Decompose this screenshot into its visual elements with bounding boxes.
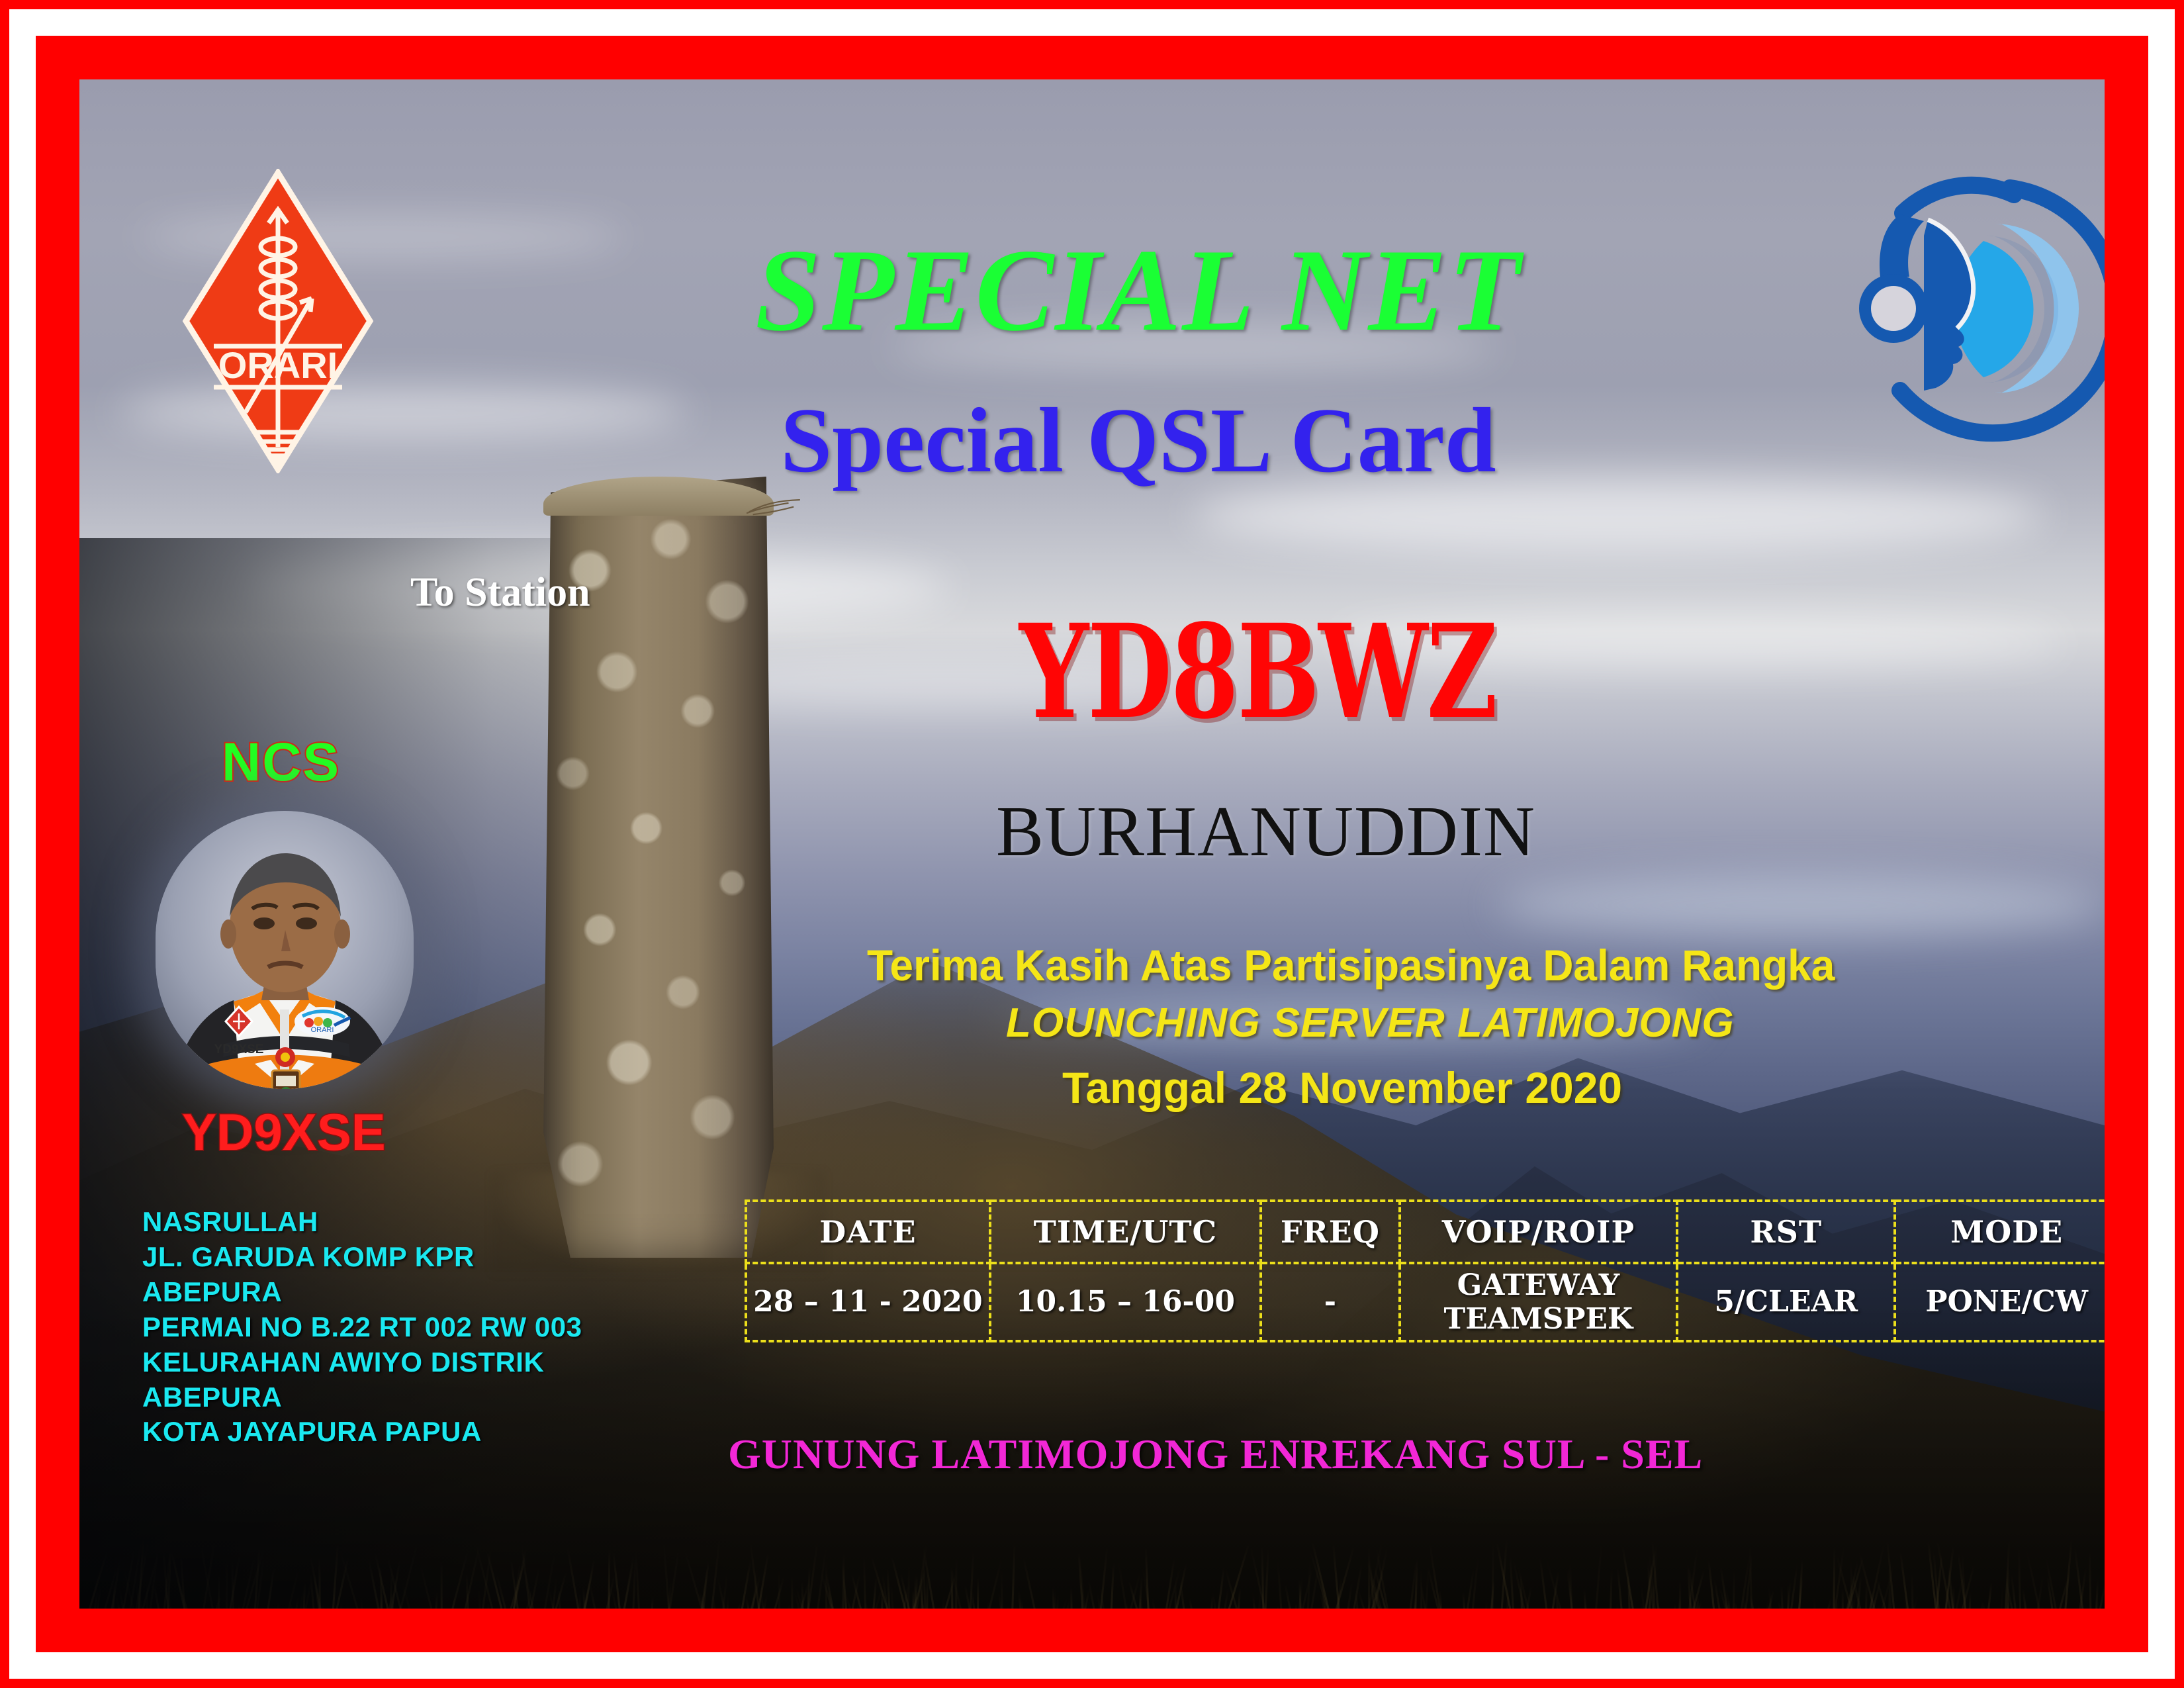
orari-logo: ORARI [182,169,374,473]
to-station-label: To Station [410,569,590,616]
address-line: NASRULLAH [142,1205,645,1240]
ncs-operator-photo: YD9XSE ORARI [156,811,414,1089]
photo-vignette [156,811,414,1089]
header-voip: VOIP/ROIP [1400,1201,1677,1263]
cell-time: 10.15 – 16-00 [990,1263,1261,1341]
header-time: TIME/UTC [990,1201,1261,1263]
cell-voip: GATEWAY TEAMSPEK [1400,1263,1677,1341]
ncs-callsign: YD9XSE [182,1102,386,1162]
header-freq: FREQ [1261,1201,1400,1263]
thanks-line: Terima Kasih Atas Partisipasinya Dalam R… [867,940,1835,990]
operator-name: BURHANUDDIN [996,791,1535,873]
address-line: ABEPURA [142,1275,645,1310]
cell-date: 28 – 11 - 2020 [746,1263,990,1341]
cell-rst: 5/CLEAR [1677,1263,1895,1341]
ncs-role-label: NCS [222,731,340,794]
cell-mode: PONE/CW [1895,1263,2105,1341]
address-block: NASRULLAH JL. GARUDA KOMP KPR ABEPURA PE… [142,1205,645,1450]
event-title: LOUNCHING SERVER LATIMOJONG [1006,1000,1735,1047]
address-line: KELURAHAN AWIYO DISTRIK [142,1345,645,1380]
address-line: JL. GARUDA KOMP KPR [142,1240,645,1275]
qso-log-table: DATE TIME/UTC FREQ VOIP/ROIP RST MODE 28… [745,1199,2105,1342]
table-row: 28 – 11 - 2020 10.15 – 16-00 - GATEWAY T… [746,1263,2105,1341]
qsl-card-frame: ORARI SPECIAL NET Special Q [0,0,2184,1688]
page-subtitle: Special QSL Card [543,387,1734,494]
header-date: DATE [746,1201,990,1263]
cell-voip-line2: TEAMSPEK [1401,1302,1676,1336]
rapi-headset-logo [1837,172,2105,450]
address-line: ABEPURA [142,1380,645,1415]
header-rst: RST [1677,1201,1895,1263]
event-date: Tanggal 28 November 2020 [1062,1062,1622,1113]
card-photo-area: ORARI SPECIAL NET Special Q [79,79,2105,1609]
mountain-caption: GUNUNG LATIMOJONG ENREKANG SUL - SEL [728,1430,1703,1479]
header-mode: MODE [1895,1201,2105,1263]
address-line: PERMAI NO B.22 RT 002 RW 003 [142,1310,645,1345]
address-line: KOTA JAYAPURA PAPUA [142,1415,645,1450]
cell-freq: - [1261,1263,1400,1341]
table-header-row: DATE TIME/UTC FREQ VOIP/ROIP RST MODE [746,1201,2105,1263]
station-callsign: YD8BWZ [1019,596,1496,747]
page-title: SPECIAL NET [543,222,1734,358]
frame-inner-red-band: ORARI SPECIAL NET Special Q [36,36,2148,1652]
frame-white-band: ORARI SPECIAL NET Special Q [9,9,2175,1679]
cell-voip-line1: GATEWAY [1401,1268,1676,1302]
orari-logo-text: ORARI [218,344,338,386]
